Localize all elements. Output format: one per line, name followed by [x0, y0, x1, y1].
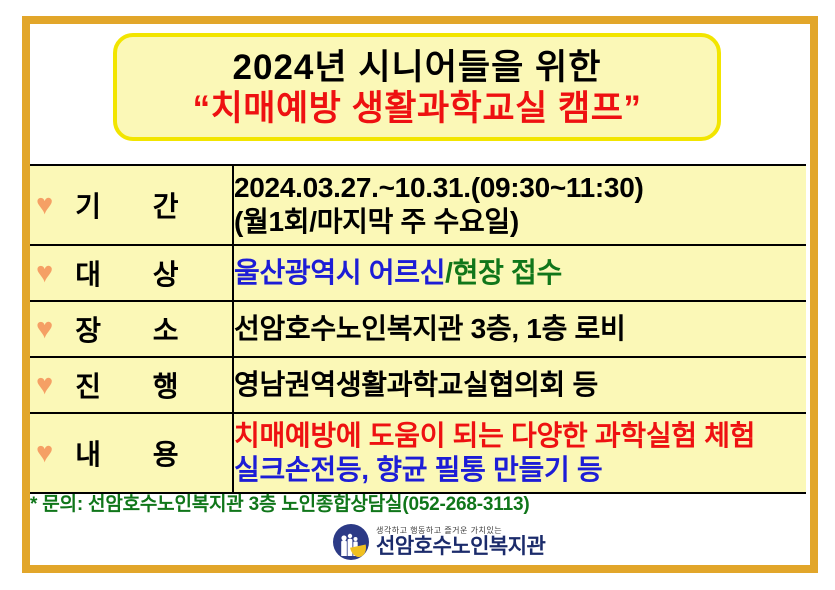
- organization-logo: 생각하고 행동하고 즐거운 가치있는 선암호수노인복지관: [333, 524, 545, 560]
- logo-organization-name: 선암호수노인복지관: [376, 536, 545, 557]
- info-table: ♥ 기 간 2024.03.27.~10.31.(09:30~11:30) (월…: [30, 164, 806, 494]
- row-label-text: 내 용: [69, 433, 200, 473]
- heart-icon: ♥: [36, 259, 53, 288]
- row-value-cell: 치매예방에 도움이 되는 다양한 과학실험 체험 실크손전등, 향균 필통 만들…: [233, 413, 806, 493]
- contact-footnote: * 문의: 선암호수노인복지관 3층 노인종합상담실(052-268-3113): [30, 489, 529, 516]
- row-value-segment-method: /현장 접수: [445, 257, 562, 288]
- row-value-line: 영남권역생활과학교실협의회 등: [234, 368, 806, 402]
- heart-icon: ♥: [36, 439, 53, 468]
- row-label-text: 진 행: [69, 365, 200, 405]
- row-label-cell: ♥ 기 간: [30, 165, 233, 245]
- title-line-2: “치매예방 생활과학교실 캠프”: [193, 90, 642, 128]
- row-label-text: 장 소: [69, 309, 200, 349]
- title-line-1: 2024년 시니어들을 위한: [233, 49, 602, 87]
- row-value-cell: 2024.03.27.~10.31.(09:30~11:30) (월1회/마지막…: [233, 165, 806, 245]
- heart-icon: ♥: [36, 371, 53, 400]
- table-row: ♥ 진 행 영남권역생활과학교실협의회 등: [30, 357, 806, 413]
- row-value-segment-target: 울산광역시 어르신: [234, 257, 445, 288]
- row-value-line: 선암호수노인복지관 3층, 1층 로비: [234, 312, 806, 346]
- table-row: ♥ 장 소 선암호수노인복지관 3층, 1층 로비: [30, 301, 806, 357]
- row-value-line: 실크손전등, 향균 필통 만들기 등: [234, 453, 806, 487]
- row-value-line: (월1회/마지막 주 수요일): [234, 205, 806, 239]
- logo-tagline: 생각하고 행동하고 즐거운 가치있는: [376, 527, 545, 535]
- table-row: ♥ 대 상 울산광역시 어르신/현장 접수: [30, 245, 806, 301]
- row-value-cell: 울산광역시 어르신/현장 접수: [233, 245, 806, 301]
- row-value-line: 울산광역시 어르신/현장 접수: [234, 256, 806, 290]
- poster-canvas: 2024년 시니어들을 위한 “치매예방 생활과학교실 캠프” ♥ 기 간 20…: [0, 0, 835, 590]
- row-label-text: 기 간: [69, 185, 200, 225]
- row-label-cell: ♥ 장 소: [30, 301, 233, 357]
- table-row: ♥ 내 용 치매예방에 도움이 되는 다양한 과학실험 체험 실크손전등, 향균…: [30, 413, 806, 493]
- title-box: 2024년 시니어들을 위한 “치매예방 생활과학교실 캠프”: [113, 33, 721, 141]
- row-value-line: 2024.03.27.~10.31.(09:30~11:30): [234, 171, 806, 205]
- heart-icon: ♥: [36, 315, 53, 344]
- table-row: ♥ 기 간 2024.03.27.~10.31.(09:30~11:30) (월…: [30, 165, 806, 245]
- row-label-text: 대 상: [69, 253, 200, 293]
- row-value-cell: 영남권역생활과학교실협의회 등: [233, 357, 806, 413]
- row-label-cell: ♥ 진 행: [30, 357, 233, 413]
- heart-icon: ♥: [36, 191, 53, 220]
- row-label-cell: ♥ 내 용: [30, 413, 233, 493]
- row-label-cell: ♥ 대 상: [30, 245, 233, 301]
- row-value-line: 치매예방에 도움이 되는 다양한 과학실험 체험: [234, 419, 806, 453]
- logo-emblem-icon: [333, 524, 369, 560]
- row-value-cell: 선암호수노인복지관 3층, 1층 로비: [233, 301, 806, 357]
